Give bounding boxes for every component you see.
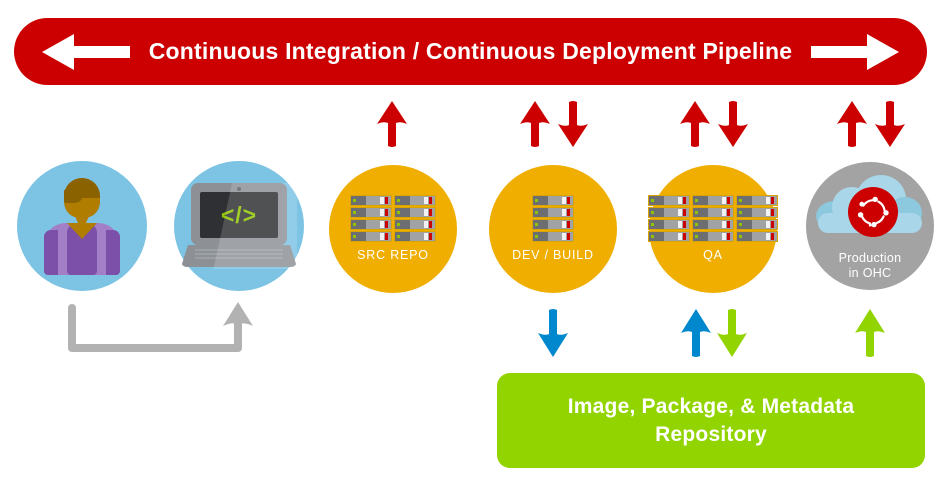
server-rack-icon: [532, 195, 574, 242]
arrow-down-icon: [536, 308, 570, 358]
feedback-loop-connector-icon: [62, 300, 262, 362]
repository-label: Image, Package, & Metadata Repository: [568, 393, 855, 448]
server-rack-icon: [648, 195, 778, 242]
code-brackets-text: </>: [221, 202, 257, 229]
node-qa[interactable]: QA: [649, 165, 777, 293]
arrow-up-icon: [518, 100, 552, 148]
arrow-up-icon: [853, 308, 887, 358]
arrow-up-icon: [678, 100, 712, 148]
arrow-down-icon: [716, 100, 750, 148]
repository-box[interactable]: Image, Package, & Metadata Repository: [497, 373, 925, 468]
arrow-left-icon: [40, 28, 132, 76]
node-src-repo[interactable]: SRC REPO: [329, 165, 457, 293]
arrow-right-icon: [809, 28, 901, 76]
arrow-up-icon: [835, 100, 869, 148]
person-icon: [36, 178, 128, 274]
cicd-pipeline-diagram: Continuous Integration / Continuous Depl…: [0, 0, 941, 500]
repository-label-line1: Image, Package, & Metadata: [568, 393, 855, 420]
node-label-production-line1: Production: [839, 251, 902, 266]
arrow-down-icon: [715, 308, 749, 358]
node-production[interactable]: Production in OHC: [806, 162, 934, 290]
arrow-down-icon: [873, 100, 907, 148]
node-label-production-line2: in OHC: [839, 266, 902, 281]
arrow-down-icon: [556, 100, 590, 148]
node-label-production: Production in OHC: [839, 251, 902, 281]
arrow-up-icon: [679, 308, 713, 358]
cloud-ohc-icon: [814, 171, 926, 245]
node-label-src-repo: SRC REPO: [357, 248, 429, 263]
pipeline-banner-title: Continuous Integration / Continuous Depl…: [149, 38, 793, 65]
arrow-up-icon: [375, 100, 409, 148]
node-dev-build[interactable]: DEV / BUILD: [489, 165, 617, 293]
node-label-dev-build: DEV / BUILD: [512, 248, 594, 263]
node-developer[interactable]: [17, 161, 147, 291]
node-workstation[interactable]: </>: [174, 161, 304, 291]
repository-label-line2: Repository: [568, 421, 855, 448]
server-rack-icon: [350, 195, 436, 242]
laptop-code-icon: </>: [181, 183, 297, 269]
node-label-qa: QA: [703, 248, 723, 263]
ohc-logo-icon: [848, 187, 898, 237]
pipeline-banner: Continuous Integration / Continuous Depl…: [14, 18, 927, 85]
